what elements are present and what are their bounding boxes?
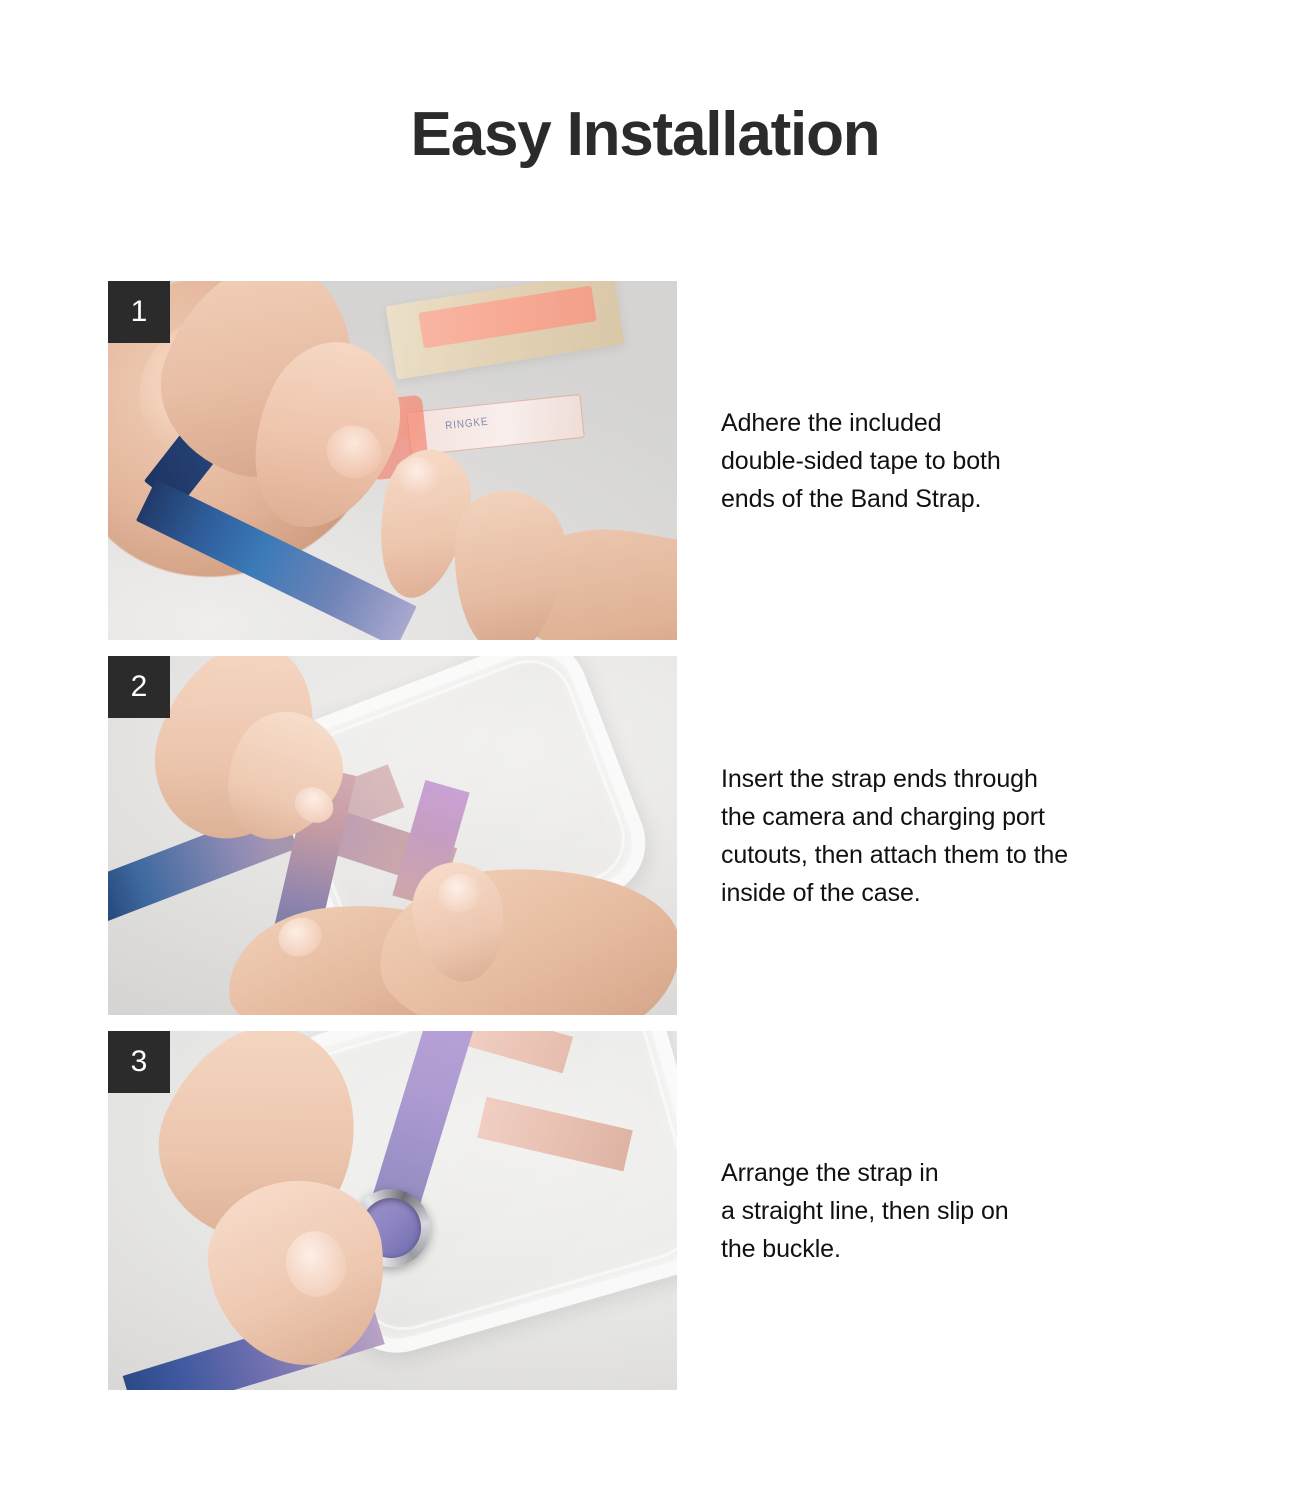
caption-line: ends of the Band Strap. — [721, 480, 1191, 518]
step-caption: Arrange the strap in a straight line, th… — [721, 1154, 1191, 1268]
installation-step: RINGKE 1 Adhere the included double-side… — [0, 281, 1290, 640]
step-photo-3: 3 — [108, 1031, 677, 1390]
installation-steps-list: RINGKE 1 Adhere the included double-side… — [0, 281, 1290, 1406]
step-photo-2: 2 — [108, 656, 677, 1015]
caption-line: Adhere the included — [721, 404, 1191, 442]
step-number-badge: 1 — [108, 281, 170, 343]
step-number-badge: 3 — [108, 1031, 170, 1093]
caption-line: Arrange the strap in — [721, 1154, 1191, 1192]
caption-line: a straight line, then slip on — [721, 1192, 1191, 1230]
caption-line: inside of the case. — [721, 874, 1191, 912]
step-1-illustration: RINGKE — [108, 281, 677, 640]
caption-line: Insert the strap ends through — [721, 760, 1191, 798]
caption-line: the buckle. — [721, 1230, 1191, 1268]
step-caption: Adhere the included double-sided tape to… — [721, 404, 1191, 518]
caption-line: double-sided tape to both — [721, 442, 1191, 480]
easy-installation-page: Easy Installation RINGKE — [0, 0, 1290, 1500]
step-number-badge: 2 — [108, 656, 170, 718]
page-title: Easy Installation — [0, 102, 1290, 167]
caption-line: cutouts, then attach them to the — [721, 836, 1191, 874]
tape-brand-label: RINGKE — [445, 416, 489, 432]
installation-step: 2 Insert the strap ends through the came… — [0, 656, 1290, 1015]
step-3-illustration — [108, 1031, 677, 1390]
step-photo-1: RINGKE 1 — [108, 281, 677, 640]
caption-line: the camera and charging port — [721, 798, 1191, 836]
step-caption: Insert the strap ends through the camera… — [721, 760, 1191, 912]
step-2-illustration — [108, 656, 677, 1015]
installation-step: 3 Arrange the strap in a straight line, … — [0, 1031, 1290, 1390]
